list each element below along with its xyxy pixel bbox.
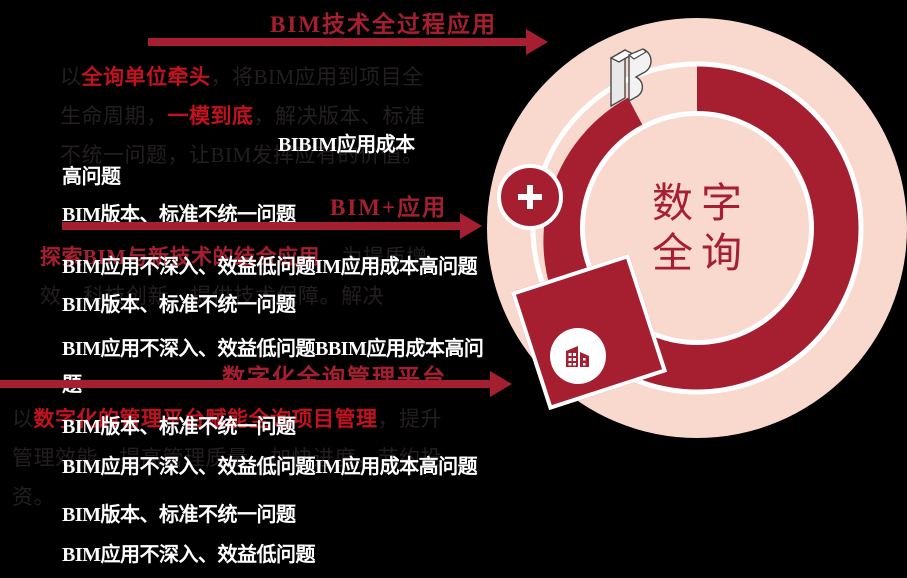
center-line-2: 全询 (644, 228, 750, 278)
plus-icon (497, 164, 563, 230)
building-glyph (561, 339, 595, 373)
overlay-line-2: 高问题 (62, 160, 121, 189)
building-icon (550, 328, 606, 384)
overlay-line-8: BIM版本、标准不统一问题 (62, 410, 296, 439)
p1-highlight-1: 全询单位牵头 (82, 65, 211, 89)
p1-highlight-2: 一模到底 (168, 104, 254, 128)
overlay-line-5: BIM版本、标准不统一问题 (62, 288, 296, 317)
overlay-line-6: BIM应用不深入、效益低问题BBIM应用成本高问 (62, 332, 483, 361)
arrow-bim-plus (62, 222, 462, 230)
overlay-line-4: BIM应用不深入、效益低问题IM应用成本高问题 (62, 250, 477, 279)
center-line-1: 数字 (644, 178, 750, 228)
arrow-digital-platform (0, 380, 492, 388)
bim-b-logo-icon (605, 46, 657, 108)
circular-diagram: 数字 全询 (487, 18, 907, 438)
p3-lead: 以 (12, 407, 34, 431)
arrow-label-bim-plus: BIM+应用 (330, 188, 447, 222)
paragraph-bim-full-process: 以全询单位牵头，将BIM应用到项目全生命周期，一模到底，解决版本、标准不统一问题… (60, 58, 445, 175)
infographic-canvas: 数字 全询 (0, 0, 907, 578)
overlay-line-1: BIBIM应用成本 (278, 128, 415, 157)
arrow-bim-full-process (148, 38, 528, 46)
arrow-label-bim-full-process: BIM技术全过程应用 (270, 5, 497, 39)
overlay-line-11: BIM应用不深入、效益低问题 (62, 538, 315, 567)
p1-lead: 以 (60, 65, 82, 89)
overlay-line-10: BIM版本、标准不统一问题 (62, 498, 296, 527)
plus-glyph (513, 180, 547, 214)
overlay-line-9: BIM应用不深入、效益低问题IM应用成本高问题 (62, 450, 477, 479)
